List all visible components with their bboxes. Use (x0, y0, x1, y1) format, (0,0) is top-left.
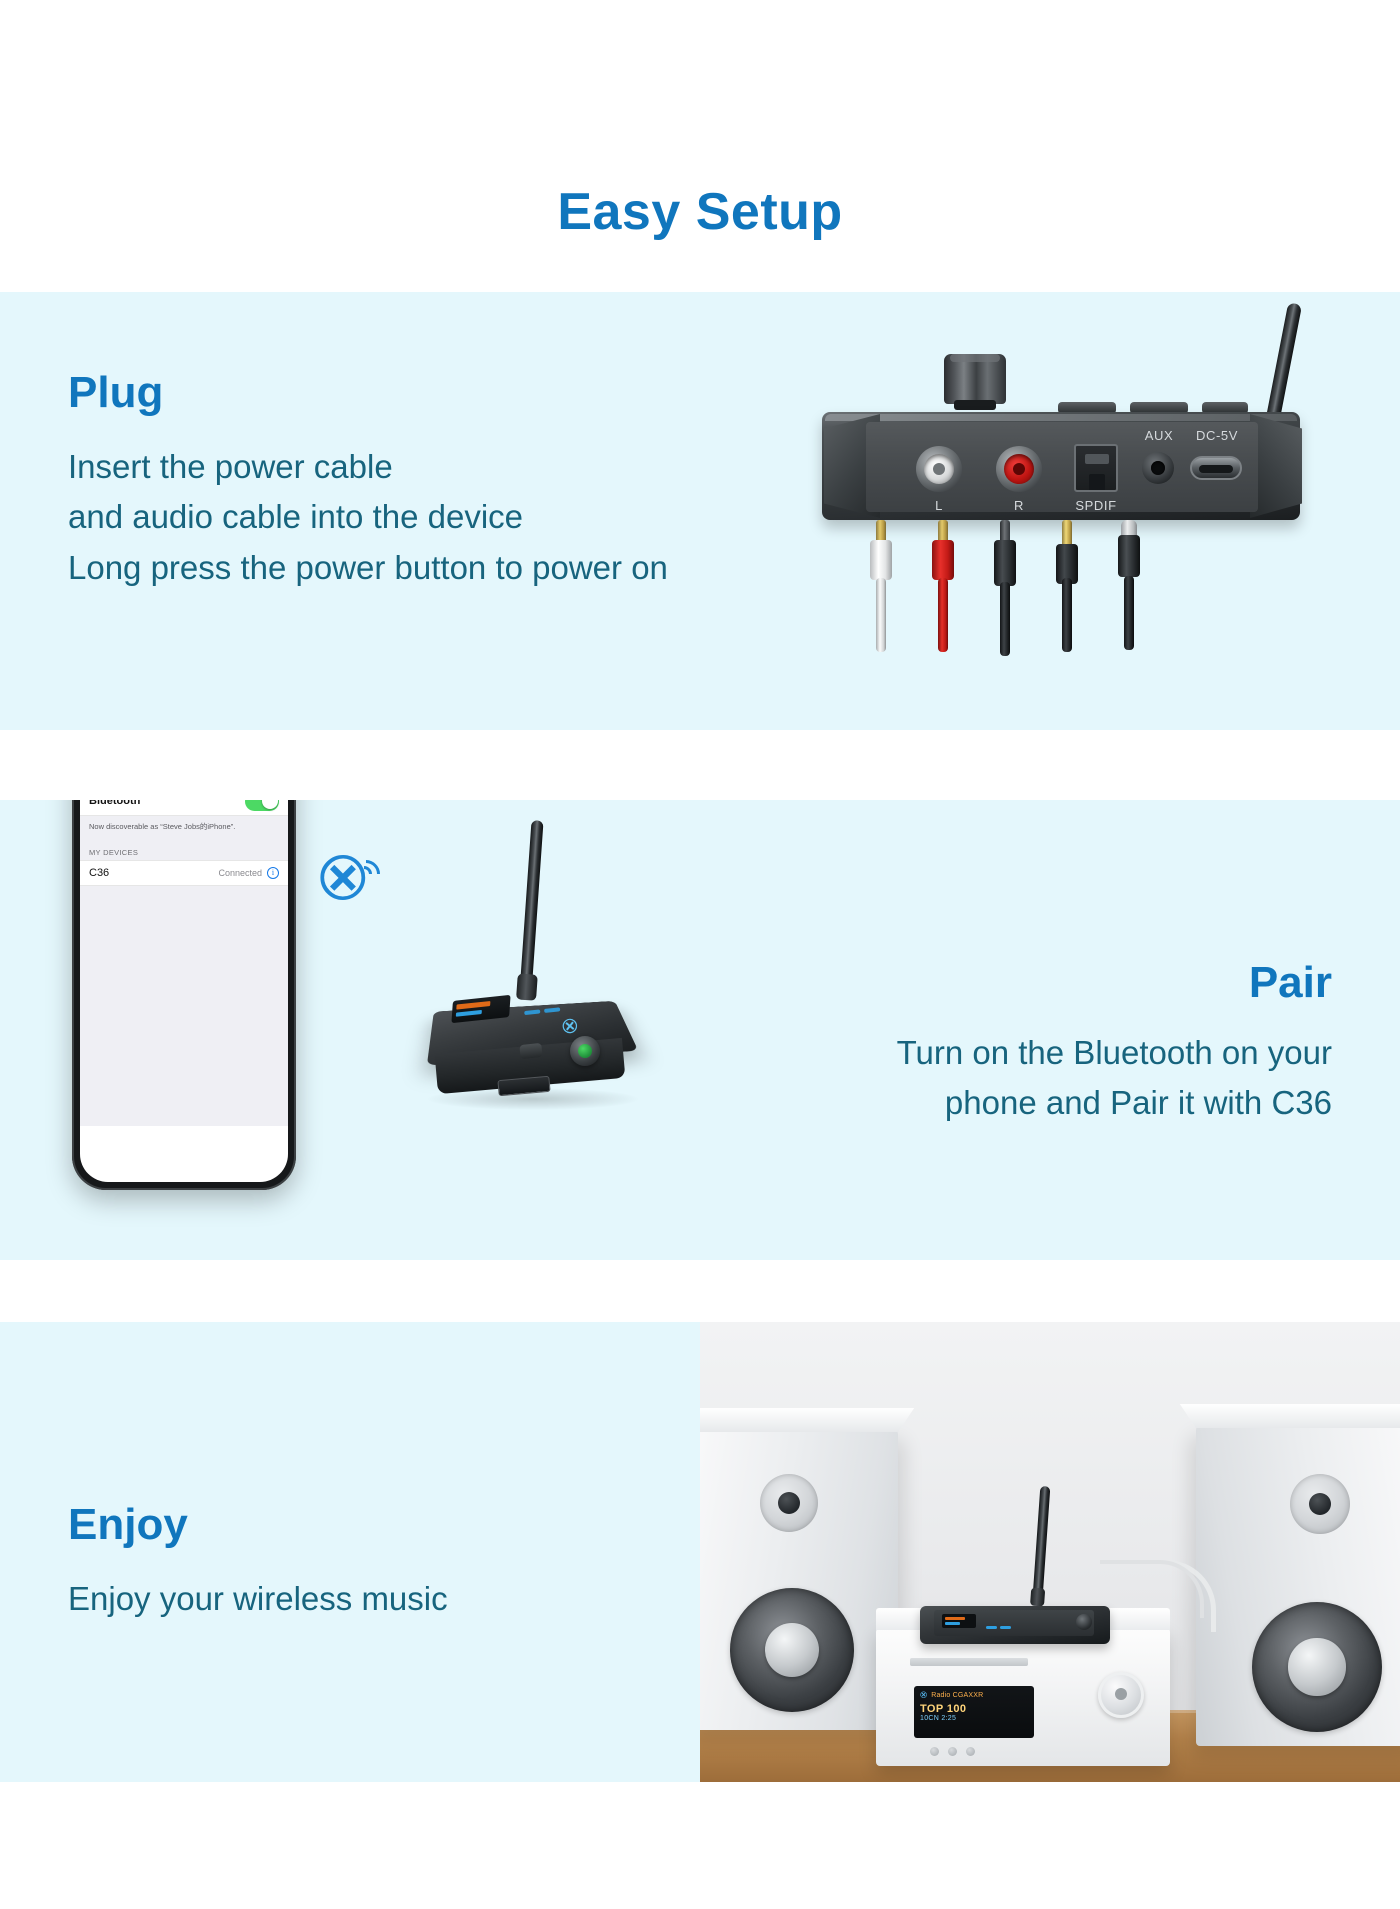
enjoy-heading: Enjoy (68, 1502, 688, 1548)
device-power-knob (570, 1036, 600, 1066)
receiver-leds (986, 1616, 1014, 1634)
left-woofer (730, 1588, 854, 1712)
plug-text-block: Plug Insert the power cable and audio ca… (68, 370, 728, 593)
spdif-optical-port (1074, 444, 1118, 492)
list-item[interactable]: C36 Connected i (80, 860, 288, 886)
device-shadow (428, 1088, 638, 1110)
bluetooth-icon: ⮿ (920, 1691, 927, 1700)
stereo-receiver-unit: ⮿ Radio CGAXXR TOP 100 10CN 2:25 (876, 1628, 1170, 1766)
usb-type-c-cable-icon (1116, 520, 1142, 650)
stereo-button-row (930, 1747, 975, 1756)
knob-cap (944, 354, 1006, 404)
stereo-system-photo: ⮿ Radio CGAXXR TOP 100 10CN 2:25 (700, 1322, 1400, 1782)
pair-text-block: Pair Turn on the Bluetooth on your phone… (732, 960, 1332, 1129)
device-mode-button (519, 1043, 542, 1059)
plug-heading: Plug (68, 370, 728, 416)
device-status: Connected (218, 868, 262, 878)
bluetooth-icon: ⮿ (561, 1015, 579, 1040)
phone-screen: ▿ 93% ‹ Settings Bluetooth (80, 800, 288, 1182)
aux-port (1142, 452, 1174, 484)
bluetooth-toggle-row[interactable]: Bluetooth (80, 800, 288, 816)
device-name: C36 (89, 867, 109, 879)
receiver-knob (1076, 1614, 1092, 1630)
stereo-display-panel: ⮿ Radio CGAXXR TOP 100 10CN 2:25 (914, 1686, 1034, 1738)
pair-body-line-2: phone and Pair it with C36 (732, 1078, 1332, 1128)
cd-slot (910, 1658, 1028, 1666)
display-line-3: 10CN 2:25 (920, 1715, 1028, 1722)
right-tweeter (1290, 1474, 1350, 1534)
phone-mockup: ▿ 93% ‹ Settings Bluetooth (72, 800, 296, 1190)
bluetooth-toggle-switch[interactable] (245, 800, 279, 811)
stereo-button-1 (930, 1747, 939, 1756)
left-tweeter (760, 1474, 818, 1532)
right-speaker (1196, 1426, 1400, 1746)
port-label-r: R (984, 498, 1054, 513)
stereo-button-2 (948, 1747, 957, 1756)
bluetooth-receiver-on-stereo (920, 1590, 1110, 1644)
receiver-device-image: ⮿ (420, 840, 650, 1130)
page-title: Easy Setup (0, 182, 1400, 242)
port-label-dc-5v: DC-5V (1186, 428, 1248, 443)
plug-body-line-3: Long press the power button to power on (68, 543, 728, 593)
receiver-mini-display (942, 1614, 976, 1628)
stereo-button-3 (966, 1747, 975, 1756)
antenna-icon (1030, 1486, 1052, 1607)
stereo-volume-knob (1098, 1672, 1144, 1718)
infographic-page: Easy Setup Plug Insert the power cable a… (0, 0, 1400, 1909)
display-line-2: TOP 100 (920, 1703, 1028, 1715)
toggle-knob (262, 800, 278, 809)
knob-base (954, 400, 996, 410)
left-speaker (700, 1430, 898, 1730)
aux-35mm-cable-icon (1054, 520, 1080, 650)
enjoy-body-line-1: Enjoy your wireless music (68, 1574, 688, 1624)
rca-jack-left (916, 446, 962, 492)
enjoy-text-block: Enjoy Enjoy your wireless music (68, 1502, 688, 1624)
plug-body-line-1: Insert the power cable (68, 442, 728, 492)
rca-jack-right (996, 446, 1042, 492)
my-devices-section-label: MY DEVICES (80, 839, 288, 860)
volume-knob (944, 354, 1006, 416)
phone-empty-area (80, 886, 288, 1126)
antenna-icon (516, 820, 547, 1001)
display-line-1: Radio CGAXXR (931, 1692, 983, 1699)
white-rca-cable-icon (868, 520, 894, 650)
port-label-spdif: SPDIF (1064, 498, 1128, 513)
info-icon[interactable]: i (267, 867, 279, 879)
right-woofer (1252, 1602, 1382, 1732)
red-rca-cable-icon (930, 520, 956, 650)
bluetooth-row-label: Bluetooth (89, 800, 140, 807)
section-pair: ▿ 93% ‹ Settings Bluetooth (0, 800, 1400, 1260)
cable-set-image (868, 520, 1188, 650)
port-label-aux: AUX (1130, 428, 1188, 443)
pair-body-line-1: Turn on the Bluetooth on your (732, 1028, 1332, 1078)
bluetooth-settings-group: Bluetooth Now discoverable as “Steve Job… (80, 800, 288, 1126)
section-plug: Plug Insert the power cable and audio ca… (0, 292, 1400, 730)
dc-5v-usb-c-port (1190, 456, 1242, 480)
port-label-l: L (904, 498, 974, 513)
discoverable-note: Now discoverable as “Steve Jobs的iPhone”. (80, 816, 288, 839)
pair-heading: Pair (732, 960, 1332, 1006)
optical-toslink-cable-icon (992, 520, 1018, 650)
plug-body-line-2: and audio cable into the device (68, 492, 728, 542)
section-enjoy: Enjoy Enjoy your wireless music (0, 1322, 1400, 1782)
